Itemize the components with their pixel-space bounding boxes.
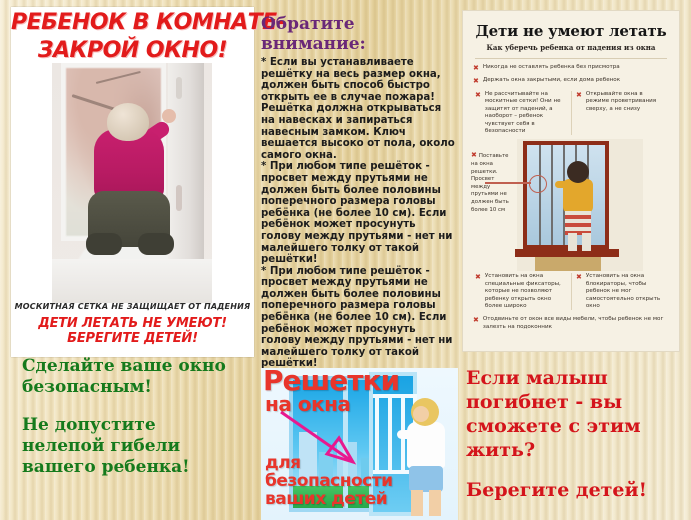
x-mark-icon: ✖ [473, 316, 479, 324]
green-spacer [22, 398, 257, 415]
green-line-3: Не допустите [22, 415, 257, 436]
left-poster-caption-small: МОСКИТНАЯ СЕТКА НЕ ЗАЩИЩАЕТ ОТ ПАДЕНИЯ [11, 302, 254, 311]
infographic-rule-row: ✖ Держать окна закрытыми, если дома ребе… [473, 77, 669, 85]
photo-child-foot [86, 233, 122, 255]
left-poster-headline-line2: ЗАКРОЙ ОКНО! [11, 35, 254, 63]
green-line-2: безопасным! [22, 377, 257, 398]
infographic-two-column-bottom: ✖ Установить на окна специальные фиксато… [471, 273, 671, 310]
x-mark-icon: ✖ [475, 91, 481, 99]
green-line-5: вашего ребенка! [22, 457, 257, 478]
photo-child-head [107, 103, 149, 141]
attention-paragraph-1: * Если вы устанавливаете решётку на весь… [261, 57, 457, 161]
photo-window-latch-bottom [176, 185, 182, 211]
grilles-poster-line3a: для [265, 454, 393, 472]
infographic-rule-text: Отодвиньте от окон все виды мебели, чтоб… [483, 316, 669, 331]
red-line-4: жить? [466, 438, 681, 462]
attention-heading: Обратите внимание: [261, 14, 457, 54]
left-poster-headline-line1: РЕБЕНОК В КОМНАТЕ- [11, 7, 254, 35]
red-spacer [466, 462, 681, 478]
infographic-rule-text: Открывайте окна в режиме проветривания с… [586, 91, 667, 113]
illustration-window-sill [515, 249, 619, 257]
x-mark-icon: ✖ [471, 151, 477, 159]
infographic-rule-text: Не рассчитывайте на москитные сетки! Они… [485, 91, 567, 135]
grilles-poster-child-face [413, 406, 429, 422]
green-line-1: Сделайте ваше окно [22, 356, 257, 377]
grilles-poster-line3c: ваших детей [265, 490, 393, 508]
x-mark-icon: ✖ [576, 273, 582, 281]
red-line-1: Если малыш [466, 366, 681, 390]
x-mark-icon: ✖ [473, 77, 479, 85]
red-line-2: погибнет - вы [466, 390, 681, 414]
illustration-child-pants [565, 211, 591, 235]
infographic-two-column-top: ✖ Не рассчитывайте на москитные сетки! О… [471, 91, 671, 135]
x-mark-icon: ✖ [475, 273, 481, 281]
middle-text-column: Обратите внимание: * Если вы устанавлива… [261, 14, 457, 370]
infographic-title: Дети не умеют летать [463, 22, 679, 40]
x-mark-icon: ✖ [473, 64, 479, 72]
attention-paragraph-3: * При любом типе решёток - просвет между… [261, 266, 457, 370]
left-poster-caption-block: ДЕТИ ЛЕТАТЬ НЕ УМЕЮТ! БЕРЕГИТЕ ДЕТЕЙ! [11, 316, 254, 346]
infographic-rule-col-right: ✖ Установить на окна блокираторы, чтобы … [571, 273, 671, 310]
grilles-poster-child-shirt [407, 422, 445, 468]
grilles-poster-child-shorts [409, 466, 443, 492]
infographic-rule-text: Никогда не оставлять ребенка без присмот… [483, 64, 620, 71]
green-line-4: нелепой гибели [22, 436, 257, 457]
infographic-rule-text: Установить на окна специальные фиксаторы… [485, 273, 567, 310]
grilles-poster-child-leg [411, 490, 423, 516]
illustration-child-shirt [563, 179, 593, 213]
attention-paragraph-2: * При любом типе решёток - просвет между… [261, 161, 457, 265]
infographic-illustration: ✖Поставьте на окна решетки. Просвет межд… [471, 139, 671, 271]
slide-canvas: РЕБЕНОК В КОМНАТЕ- ЗАКРОЙ ОКНО! МОСКИТНА… [0, 0, 691, 520]
infographic-rule-col-left: ✖ Установить на окна специальные фиксато… [471, 273, 571, 310]
x-mark-icon: ✖ [576, 91, 582, 99]
illustration-grille-bar [551, 145, 553, 245]
red-line-5: Берегите детей! [466, 478, 681, 502]
grilles-poster-line3b: безопасности [265, 472, 393, 490]
infographic-rule-row: ✖ Отодвиньте от окон все виды мебели, чт… [473, 316, 669, 331]
infographic-side-label-text: Поставьте на окна решетки. Просвет между… [471, 153, 509, 212]
infographic-divider [475, 58, 667, 59]
left-poster-caption-line2: БЕРЕГИТЕ ДЕТЕЙ! [11, 331, 254, 346]
infographic-rule-text: Установить на окна блокираторы, чтобы ре… [586, 273, 667, 310]
infographic-rule-text: Держать окна закрытыми, если дома ребено… [483, 77, 620, 84]
right-infographic: Дети не умеют летать Как уберечь ребенка… [462, 10, 680, 352]
photo-window-latch-top [176, 77, 182, 99]
photo-child-foot [138, 233, 174, 255]
illustration-child-leg [568, 233, 577, 251]
grilles-poster-line2: на окна [265, 392, 350, 416]
infographic-rule-row: ✖ Никогда не оставлять ребенка без присм… [473, 64, 669, 72]
infographic-rule-col-left: ✖ Не рассчитывайте на москитные сетки! О… [471, 91, 571, 135]
attention-body: * Если вы устанавливаете решётку на весь… [261, 57, 457, 370]
illustration-grille-bar [539, 145, 541, 245]
red-line-3: сможете с этим [466, 414, 681, 438]
photo-window-sill [52, 259, 212, 303]
red-callout-text: Если малыш погибнет - вы сможете с этим … [466, 366, 681, 502]
grilles-poster: Решетки на окна для безопасности ваших д… [261, 368, 458, 520]
infographic-rule-col-right: ✖ Открывайте окна в режиме проветривания… [571, 91, 671, 135]
illustration-stand [535, 257, 601, 271]
infographic-side-label: ✖Поставьте на окна решетки. Просвет межд… [471, 151, 515, 214]
illustration-child-leg [582, 233, 591, 251]
grilles-poster-line3: для безопасности ваших детей [265, 454, 393, 508]
left-poster-caption-line1: ДЕТИ ЛЕТАТЬ НЕ УМЕЮТ! [11, 316, 254, 331]
child-at-window-photo [52, 63, 212, 303]
infographic-subtitle: Как уберечь ребенка от падения из окна [463, 43, 679, 52]
grilles-poster-child-leg [429, 490, 441, 516]
photo-child-hand [162, 109, 176, 123]
green-callout-text: Сделайте ваше окно безопасным! Не допуст… [22, 356, 257, 478]
left-poster: РЕБЕНОК В КОМНАТЕ- ЗАКРОЙ ОКНО! МОСКИТНА… [11, 7, 254, 357]
